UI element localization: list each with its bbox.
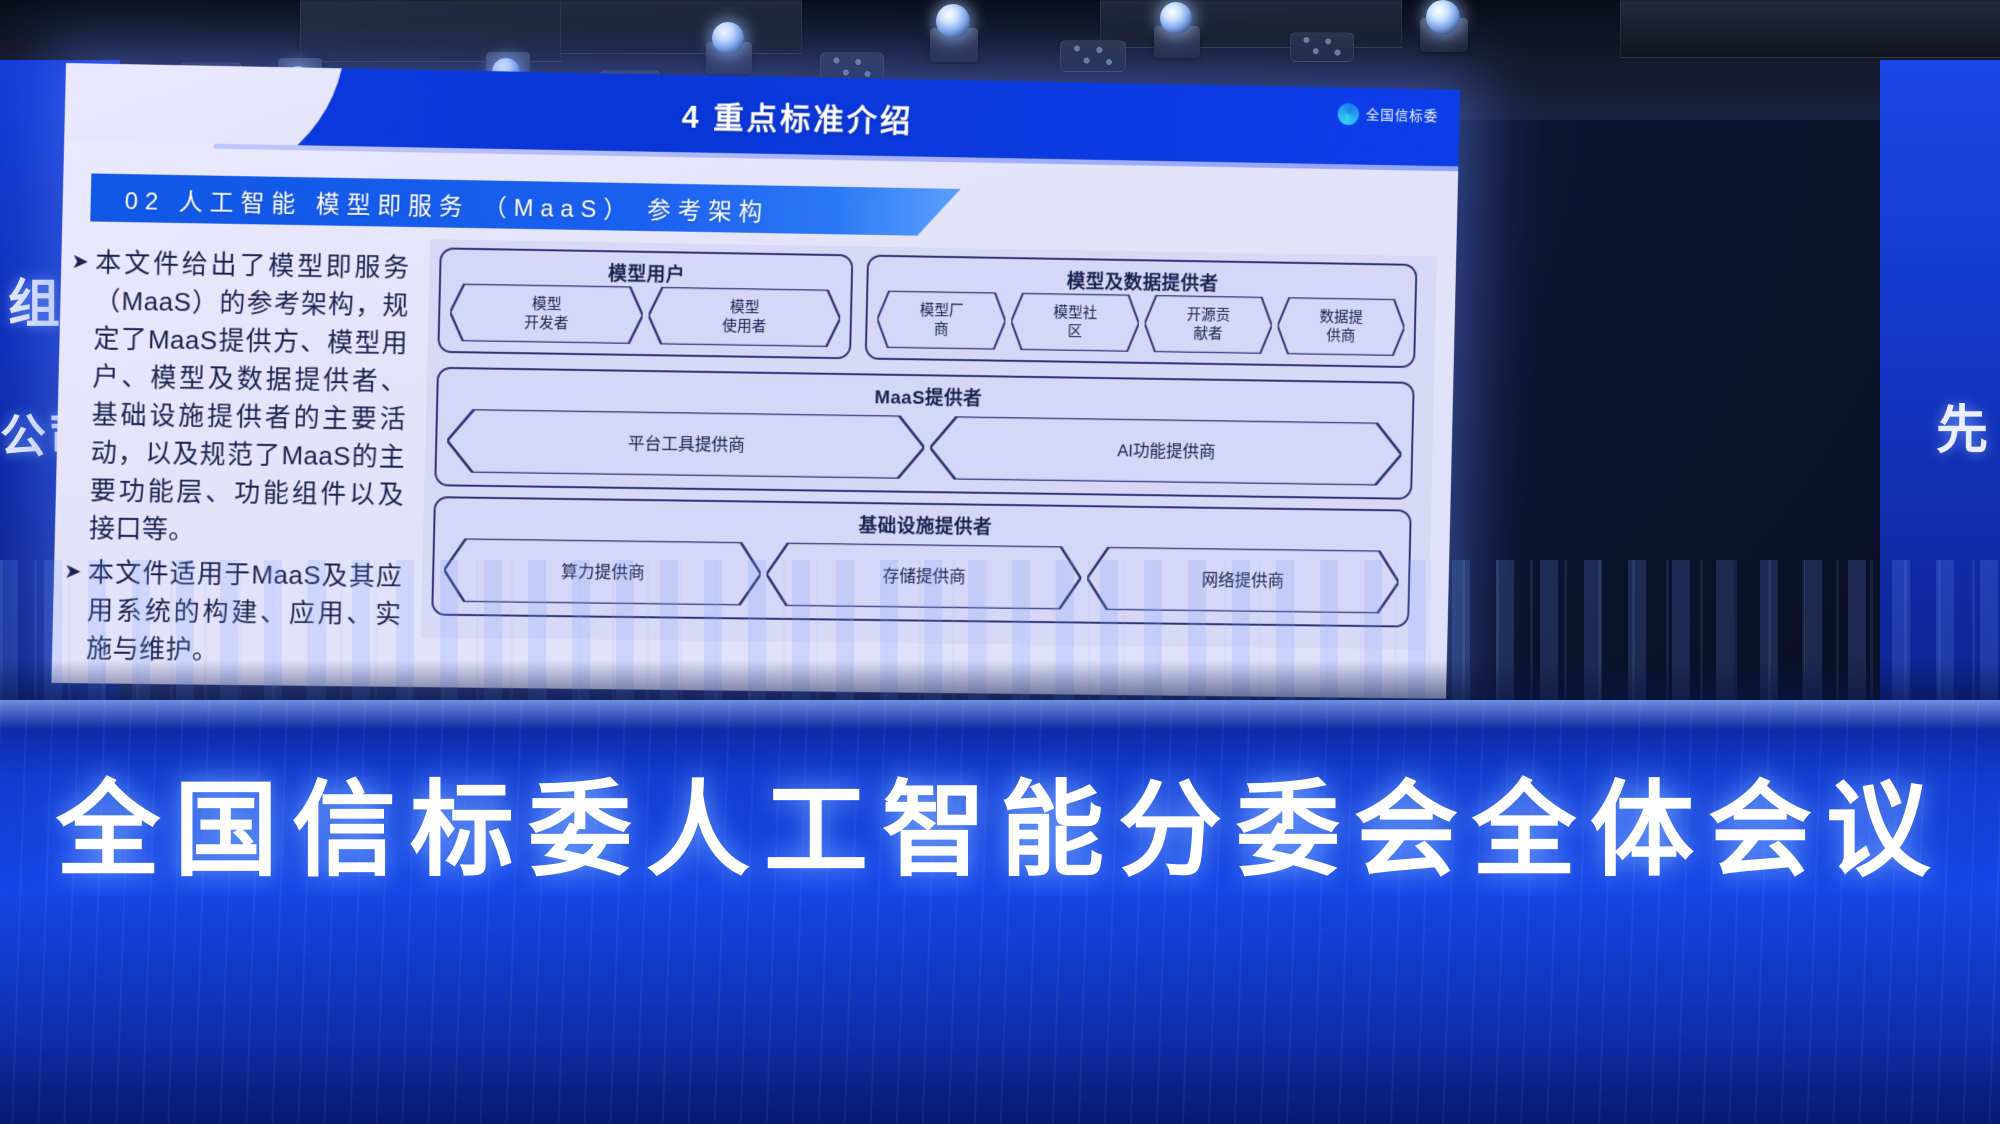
node-label: 模型开发者 xyxy=(524,295,569,333)
node-open-source-contributor: 开源贡献者 xyxy=(1144,295,1272,354)
event-title-banner: 全国信标委人工智能分委会全体会议 xyxy=(0,745,2000,896)
node-data-provider: 数据提供商 xyxy=(1277,297,1405,356)
organization-logo: 全国信标委 xyxy=(1338,103,1439,127)
group-model-users: 模型用户 模型开发者 模型使用者 xyxy=(437,247,853,359)
left-wall-glyph-1: 组 xyxy=(8,262,62,337)
spotlight-icon xyxy=(1160,2,1192,34)
ceiling-panel xyxy=(1620,0,2000,58)
ceiling-panel xyxy=(560,0,802,54)
node-model-user: 模型使用者 xyxy=(648,287,841,348)
node-ai-capability-provider: AI功能提供商 xyxy=(929,416,1402,486)
list-item: ➤ 本文件给出了模型即服务（MaaS）的参考架构，规定了MaaS提供方、模型用户… xyxy=(65,243,410,551)
node-label: 模型社区 xyxy=(1053,303,1098,341)
node-label: AI功能提供商 xyxy=(1117,441,1216,461)
led-par-light-icon xyxy=(1290,32,1354,62)
right-wall-glyph: 先 xyxy=(1936,388,1990,463)
node-model-developer: 模型开发者 xyxy=(449,283,643,344)
group-node-row: 平台工具提供商 AI功能提供商 xyxy=(446,409,1402,486)
node-model-vendor: 模型厂商 xyxy=(877,290,1006,349)
spotlight-icon xyxy=(712,22,744,54)
node-label: 平台工具提供商 xyxy=(628,434,746,455)
ceiling-panel xyxy=(1100,0,1402,48)
node-platform-tool-provider: 平台工具提供商 xyxy=(446,409,925,479)
node-label: 模型厂商 xyxy=(919,301,964,339)
bullet-text: 本文件给出了模型即服务（MaaS）的参考架构，规定了MaaS提供方、模型用户、模… xyxy=(89,244,410,552)
arrow-bullet-icon: ➤ xyxy=(71,243,96,281)
circular-swirl-logo-icon xyxy=(1338,103,1360,125)
node-label: 模型使用者 xyxy=(722,298,767,336)
spotlight-icon xyxy=(936,4,970,38)
conference-stage-photo: 组 公司 先 4 重点标准介绍 全国信标委 02 人工智能 模型即服务 （Maa… xyxy=(0,0,2000,1124)
group-node-row: 模型开发者 模型使用者 xyxy=(449,283,840,347)
group-maas-providers: MaaS提供者 平台工具提供商 AI功能提供商 xyxy=(434,367,1414,500)
node-label: 开源贡献者 xyxy=(1186,305,1231,343)
group-model-and-data-providers: 模型及数据提供者 模型厂商 模型社区 开源贡献者 xyxy=(865,255,1418,368)
group-node-row: 模型厂商 模型社区 开源贡献者 数据提供商 xyxy=(877,290,1405,356)
spotlight-icon xyxy=(1426,0,1460,34)
node-label: 数据提供商 xyxy=(1319,308,1363,346)
organization-logo-label: 全国信标委 xyxy=(1366,105,1439,126)
led-par-light-icon xyxy=(1060,40,1126,72)
section-ribbon-tail xyxy=(842,187,961,237)
node-model-community: 模型社区 xyxy=(1011,293,1140,352)
